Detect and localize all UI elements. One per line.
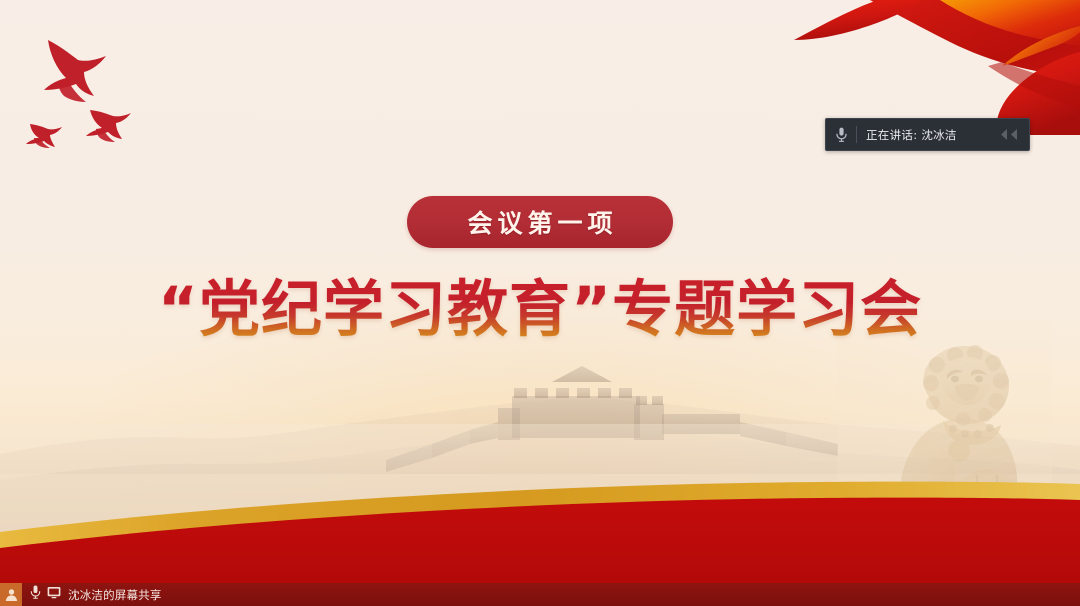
meeting-item-badge-label: 会议第一项	[462, 204, 617, 240]
speaking-label: 正在讲话: 沈冰洁	[857, 127, 989, 143]
screen-share-taskbar[interactable]: 沈冰洁的屏幕共享	[0, 583, 1080, 606]
meeting-item-badge: 会议第一项	[407, 196, 673, 248]
slide-title-block: 会议第一项 “党纪学习教育”专题学习会	[0, 196, 1080, 347]
screen-share-label: 沈冰洁的屏幕共享	[68, 587, 162, 603]
taskbar-icon-group	[22, 585, 68, 604]
speaking-indicator-overlay[interactable]: 正在讲话: 沈冰洁	[825, 118, 1030, 151]
microphone-icon[interactable]	[30, 585, 41, 604]
stone-guardian-lion-icon	[837, 321, 1052, 526]
chevron-left-double-icon[interactable]	[989, 128, 1029, 141]
user-avatar-icon	[0, 583, 22, 606]
page-title: “党纪学习教育”专题学习会	[158, 273, 922, 347]
three-doves-icon	[14, 22, 144, 157]
presentation-slide: 会议第一项 “党纪学习教育”专题学习会 正在讲话: 沈冰洁	[0, 0, 1080, 606]
red-silk-ribbon-icon	[750, 0, 1080, 135]
monitor-share-icon[interactable]	[47, 586, 61, 604]
microphone-icon	[826, 127, 856, 142]
